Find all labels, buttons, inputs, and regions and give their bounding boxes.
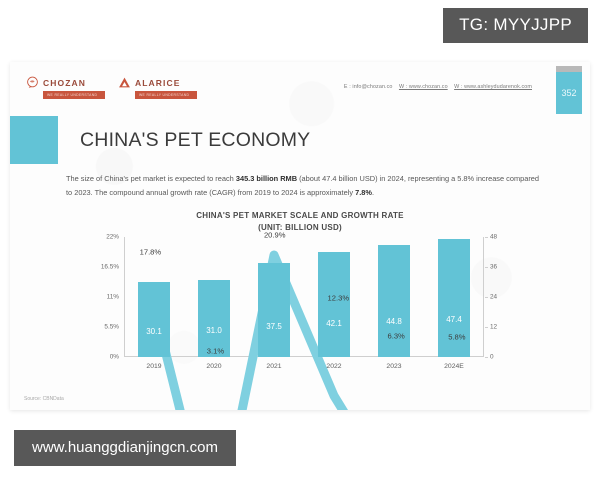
slide-title-row: CHINA'S PET ECONOMY	[10, 116, 310, 164]
alarice-wordmark: ALARICE	[135, 78, 180, 88]
x-axis-category-label: 2024E	[444, 363, 464, 370]
logo-group: CHOZAN WE REALLY UNDERSTAND ALARICE WE R…	[26, 76, 197, 99]
y-axis-left-tick: 5.5%	[104, 324, 119, 331]
y-axis-right-tick-mark	[485, 357, 488, 358]
y-axis-left-tick: 11%	[107, 294, 119, 301]
slide-header: CHOZAN WE REALLY UNDERSTAND ALARICE WE R…	[10, 62, 590, 112]
page-title: CHINA'S PET ECONOMY	[80, 129, 310, 152]
y-axis-right-tick-mark	[485, 327, 488, 328]
y-axis-right-tick-mark	[485, 267, 488, 268]
chozan-tagline: WE REALLY UNDERSTAND	[43, 91, 105, 99]
title-accent-swatch	[10, 116, 58, 164]
summary-paragraph: The size of China's pet market is expect…	[66, 172, 544, 201]
bar-2021: 37.52021	[258, 263, 289, 357]
y-axis-right-tick: 36	[490, 264, 497, 271]
alarice-triangle-icon	[118, 76, 131, 89]
chart-title: CHINA'S PET MARKET SCALE AND GROWTH RATE…	[10, 210, 590, 235]
telegram-watermark-tag: TG: MYYJJPP	[443, 8, 588, 43]
contact-info: E : info@chozan.co W : www.chozan.co W :…	[344, 84, 532, 90]
y-axis-right-tick-mark	[485, 297, 488, 298]
bar-value-label: 47.4	[446, 315, 462, 324]
page-number-badge: 352	[556, 72, 582, 114]
chart-area: 0%5.5%11%16.5%22%01224364830.1201931.020…	[88, 237, 518, 377]
growth-rate-label: 6.3%	[388, 331, 405, 340]
growth-rate-label: 20.9%	[264, 230, 286, 239]
chart-source-note: Source: CBNData	[24, 396, 64, 402]
contact-email: E : info@chozan.co	[344, 84, 393, 90]
x-axis-category-label: 2021	[266, 363, 281, 370]
y-axis-left-tick: 0%	[110, 354, 119, 361]
chart-title-unit: (UNIT: BILLION USD)	[10, 222, 590, 234]
paragraph-highlight-cagr: 7.8%	[355, 188, 372, 197]
site-watermark-tag: www.huanggdianjingcn.com	[14, 430, 236, 466]
chart-title-main: CHINA'S PET MARKET SCALE AND GROWTH RATE	[10, 210, 590, 222]
y-axis-right-tick: 12	[490, 324, 497, 331]
bar-value-label: 44.8	[386, 317, 402, 326]
y-axis-right-tick: 24	[490, 294, 497, 301]
bar-value-label: 37.5	[266, 322, 282, 331]
bar-value-label: 31.0	[206, 326, 222, 335]
bar-2020: 31.02020	[198, 280, 229, 358]
y-axis-right-tick: 48	[490, 234, 497, 241]
alarice-logo: ALARICE WE REALLY UNDERSTAND	[118, 76, 197, 99]
x-axis-category-label: 2022	[326, 363, 341, 370]
chozan-logo: CHOZAN WE REALLY UNDERSTAND	[26, 76, 105, 99]
x-axis-category-label: 2020	[206, 363, 221, 370]
paragraph-part-1: The size of China's pet market is expect…	[66, 174, 236, 183]
x-axis-category-label: 2019	[146, 363, 161, 370]
contact-website-chozan[interactable]: W : www.chozan.co	[399, 84, 448, 90]
slide-card: CHOZAN WE REALLY UNDERSTAND ALARICE WE R…	[10, 62, 590, 410]
chozan-speech-bubble-icon	[26, 76, 39, 89]
contact-website-ashleydudarenok[interactable]: W : www.ashleydudarenok.com	[454, 84, 532, 90]
bar-value-label: 42.1	[326, 319, 342, 328]
growth-rate-label: 3.1%	[207, 346, 224, 355]
chozan-wordmark: CHOZAN	[43, 78, 86, 88]
y-axis-left-tick: 16.5%	[101, 264, 119, 271]
alarice-tagline: WE REALLY UNDERSTAND	[135, 91, 197, 99]
paragraph-highlight-market-size: 345.3 billion RMB	[236, 174, 297, 183]
growth-rate-label: 12.3%	[328, 294, 350, 303]
y-axis-right-tick-mark	[485, 237, 488, 238]
x-axis-category-label: 2023	[386, 363, 401, 370]
chart-plot: 0%5.5%11%16.5%22%01224364830.1201931.020…	[124, 237, 484, 357]
paragraph-part-3: .	[372, 188, 374, 197]
bar-value-label: 30.1	[146, 327, 162, 336]
bar-2019: 30.12019	[138, 282, 169, 357]
growth-rate-label: 5.8%	[448, 333, 465, 342]
growth-rate-label: 17.8%	[140, 247, 162, 256]
bar-2022: 42.12022	[318, 252, 349, 357]
y-axis-left-tick: 22%	[106, 234, 119, 241]
y-axis-right-tick: 0	[490, 354, 494, 361]
growth-rate-line-series	[124, 237, 484, 410]
